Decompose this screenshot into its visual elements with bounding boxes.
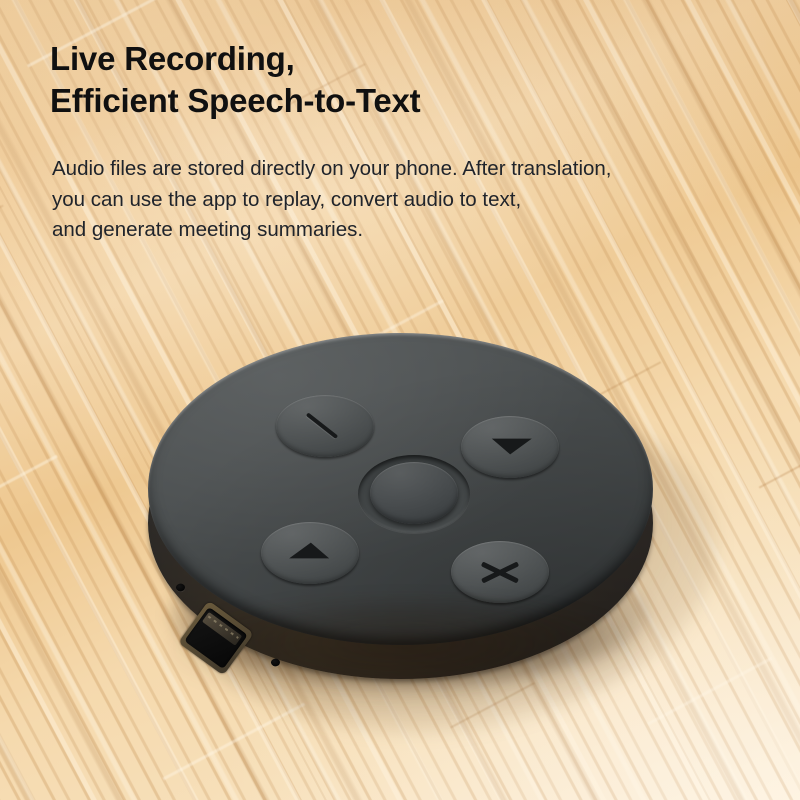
next-button[interactable] [461,416,559,478]
triangle-down-icon [461,416,559,478]
mode-slash-button[interactable] [276,395,374,457]
device-stage [0,0,800,800]
slash-icon [276,395,374,457]
close-x-icon [451,541,549,603]
voice-recorder-device[interactable] [148,333,653,645]
triangle-up-icon [261,522,359,584]
product-marketing-banner: Live Recording, Efficient Speech-to-Text… [0,0,800,800]
previous-button[interactable] [261,522,359,584]
delete-button[interactable] [451,541,549,603]
record-button[interactable] [370,462,458,524]
